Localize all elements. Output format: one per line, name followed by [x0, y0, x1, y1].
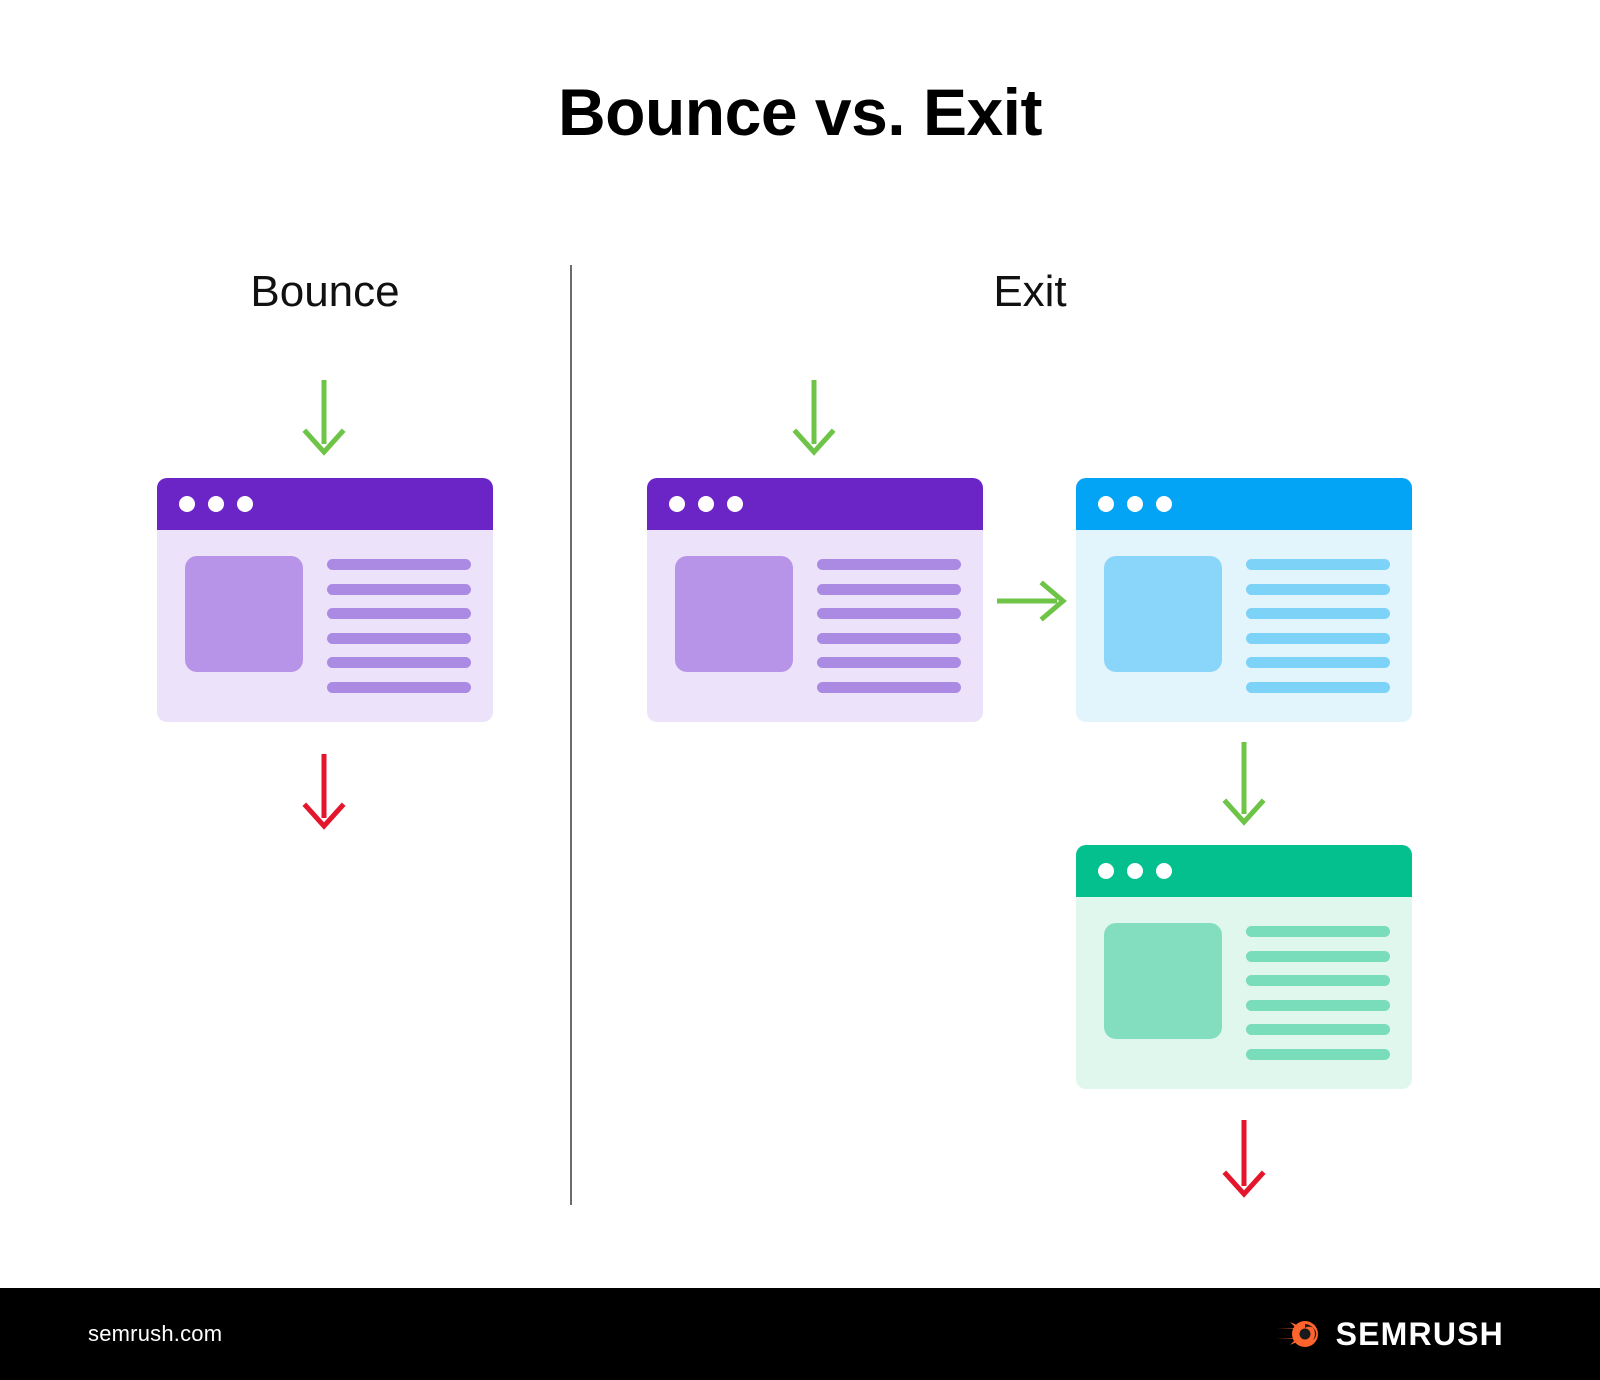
content-thumbnail-placeholder: [1104, 923, 1222, 1039]
content-line: [1246, 926, 1390, 937]
browser-card-exit-page-2[interactable]: [1076, 478, 1412, 722]
browser-card-exit-page-3[interactable]: [1076, 845, 1412, 1089]
content-line: [1246, 1049, 1390, 1060]
content-line: [817, 657, 961, 668]
content-line: [1246, 1024, 1390, 1035]
browser-body: [1076, 530, 1412, 722]
arrow-down-green-navigation-icon: [1216, 740, 1272, 831]
diagram-canvas: Bounce vs. Exit Bounce Exit: [0, 0, 1600, 1380]
window-dot-icon: [1127, 863, 1143, 879]
content-thumbnail-placeholder: [1104, 556, 1222, 672]
content-line: [1246, 633, 1390, 644]
window-dot-icon: [179, 496, 195, 512]
content-line: [1246, 608, 1390, 619]
browser-card-bounce-landing-page[interactable]: [157, 478, 493, 722]
content-line: [817, 633, 961, 644]
window-dot-icon: [727, 496, 743, 512]
browser-titlebar: [647, 478, 983, 530]
content-line: [327, 608, 471, 619]
page-title: Bounce vs. Exit: [0, 76, 1600, 149]
content-line: [817, 608, 961, 619]
browser-body: [157, 530, 493, 722]
column-label-bounce: Bounce: [120, 268, 530, 316]
content-text-lines: [1246, 923, 1390, 1063]
content-text-lines: [327, 556, 471, 696]
footer-url: semrush.com: [88, 1321, 222, 1347]
content-line: [817, 682, 961, 693]
arrow-down-red-bounce-exit-icon: [296, 752, 352, 835]
browser-titlebar: [157, 478, 493, 530]
content-line: [327, 559, 471, 570]
content-line: [1246, 682, 1390, 693]
content-line: [1246, 975, 1390, 986]
browser-body: [647, 530, 983, 722]
arrow-down-red-exit-icon: [1216, 1118, 1272, 1203]
semrush-comet-icon: [1276, 1317, 1322, 1351]
content-line: [817, 584, 961, 595]
content-line: [327, 657, 471, 668]
window-dot-icon: [1098, 496, 1114, 512]
content-thumbnail-placeholder: [675, 556, 793, 672]
window-dot-icon: [1156, 496, 1172, 512]
content-line: [327, 633, 471, 644]
window-dot-icon: [1156, 863, 1172, 879]
content-line: [1246, 951, 1390, 962]
content-line: [817, 559, 961, 570]
content-line: [327, 584, 471, 595]
content-line: [1246, 657, 1390, 668]
window-dot-icon: [698, 496, 714, 512]
browser-body: [1076, 897, 1412, 1089]
content-thumbnail-placeholder: [185, 556, 303, 672]
window-dot-icon: [1127, 496, 1143, 512]
semrush-wordmark: SEMRUSH: [1336, 1316, 1504, 1353]
content-line: [1246, 1000, 1390, 1011]
column-label-exit: Exit: [830, 268, 1230, 316]
content-line: [1246, 559, 1390, 570]
browser-card-exit-page-1[interactable]: [647, 478, 983, 722]
browser-titlebar: [1076, 478, 1412, 530]
column-divider: [570, 265, 572, 1205]
arrow-down-green-exit-entry-icon: [786, 378, 842, 461]
browser-titlebar: [1076, 845, 1412, 897]
window-dot-icon: [208, 496, 224, 512]
content-line: [1246, 584, 1390, 595]
window-dot-icon: [1098, 863, 1114, 879]
window-dot-icon: [237, 496, 253, 512]
content-text-lines: [1246, 556, 1390, 696]
footer-bar: semrush.com SEMRUSH: [0, 1288, 1600, 1380]
arrow-right-green-navigation-icon: [995, 578, 1067, 629]
content-line: [327, 682, 471, 693]
window-dot-icon: [669, 496, 685, 512]
content-text-lines: [817, 556, 961, 696]
arrow-down-green-bounce-entry-icon: [296, 378, 352, 461]
semrush-logo: SEMRUSH: [1276, 1316, 1504, 1353]
